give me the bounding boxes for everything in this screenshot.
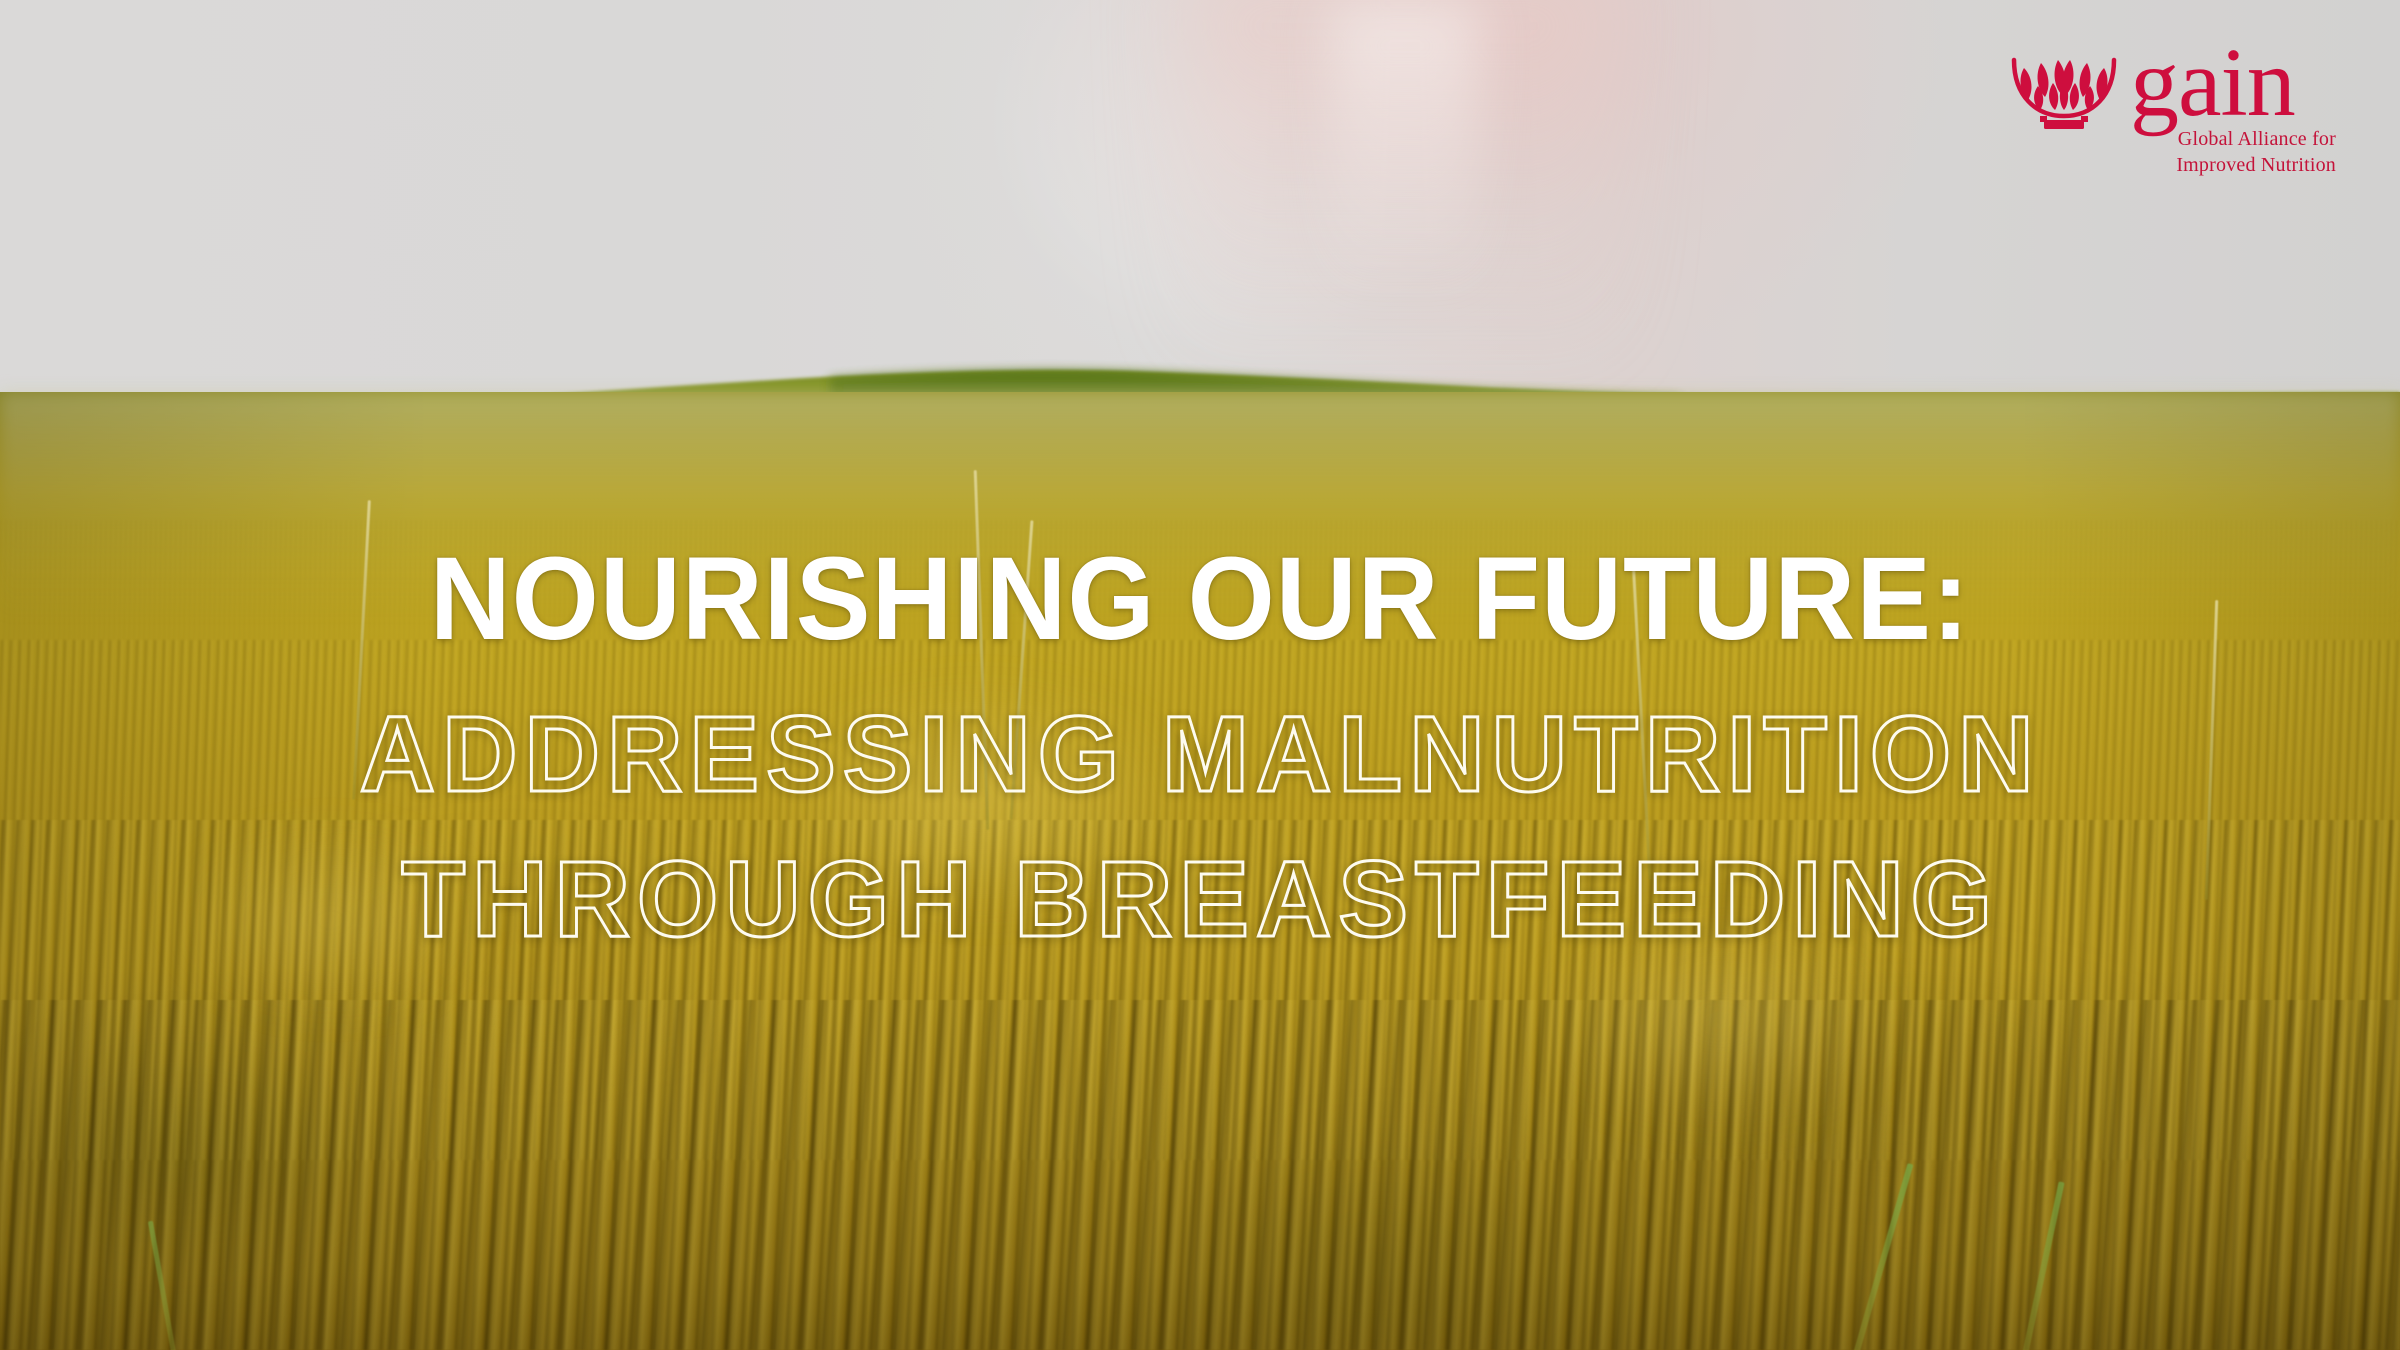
gain-tagline-line-1: Global Alliance for xyxy=(2176,126,2336,152)
wheat-bowl-icon xyxy=(2008,52,2120,134)
slide-headline: NOURISHING OUR FUTURE: xyxy=(60,540,2340,658)
gain-wordmark: gain xyxy=(2130,34,2295,132)
slide-subtitle-line-2: THROUGH BREASTFEEDING xyxy=(36,845,2364,953)
slide-subtitle-line-1: ADDRESSING MALNUTRITION xyxy=(36,700,2364,808)
gain-logo: gain Global Alliance for Improved Nutrit… xyxy=(2008,40,2338,160)
gain-tagline: Global Alliance for Improved Nutrition xyxy=(2176,126,2336,178)
title-text-block: NOURISHING OUR FUTURE: ADDRESSING MALNUT… xyxy=(0,0,2400,1350)
title-slide: NOURISHING OUR FUTURE: ADDRESSING MALNUT… xyxy=(0,0,2400,1350)
gain-tagline-line-2: Improved Nutrition xyxy=(2176,152,2336,178)
